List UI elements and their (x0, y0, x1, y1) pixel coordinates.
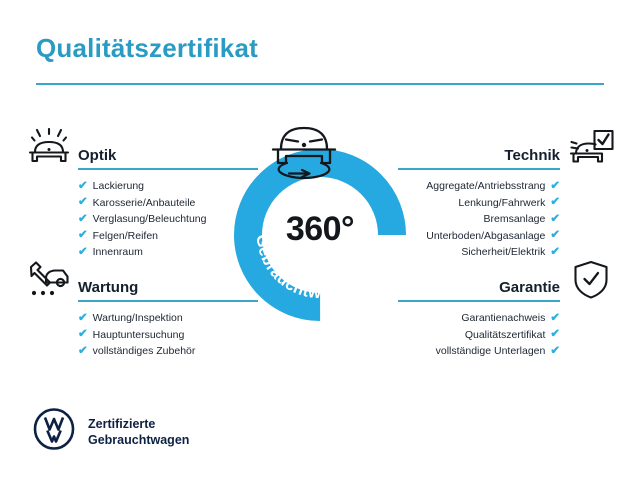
check-icon: ✔ (550, 181, 560, 193)
check-icon: ✔ (550, 346, 560, 358)
sparkling-car-front-icon (22, 126, 76, 170)
vw-logo (33, 408, 75, 455)
check-icon: ✔ (78, 329, 88, 341)
list-item: ✔Wartung/Inspektion (22, 310, 237, 327)
list-item-label: Bremsanlage (483, 211, 545, 228)
footer-brand-line2: Gebrauchtwagen (88, 432, 189, 448)
list-item-label: Qualitätszertifikat (465, 327, 546, 344)
list-item-label: vollständige Unterlagen (436, 343, 546, 360)
footer-brand-text: Zertifizierte Gebrauchtwagen (88, 416, 189, 448)
shield-check-icon (564, 258, 618, 302)
list-item: Lenkung/Fahrwerk✔ (398, 195, 618, 212)
list-item: Garantienachweis✔ (398, 310, 618, 327)
list-item: vollständige Unterlagen✔ (398, 343, 618, 360)
section-technik-header: Technik (398, 126, 618, 172)
list-item-label: Garantienachweis (461, 310, 545, 327)
check-icon: ✔ (550, 247, 560, 259)
list-item-label: Unterboden/Abgasanlage (426, 228, 545, 245)
list-item: ✔vollständiges Zubehör (22, 343, 237, 360)
section-optik-title: Optik (78, 147, 116, 164)
list-item: ✔Hauptuntersuchung (22, 327, 237, 344)
check-icon: ✔ (550, 197, 560, 209)
footer-brand-line1: Zertifizierte (88, 416, 189, 432)
section-optik: Optik ✔Lackierung ✔Karosserie/Anbauteile… (22, 126, 237, 261)
certificate-page: Qualitätszertifikat Optik (0, 0, 640, 480)
check-icon: ✔ (78, 247, 88, 259)
check-icon: ✔ (78, 214, 88, 226)
section-garantie-divider (398, 300, 560, 302)
title-divider (36, 83, 604, 85)
badge-degrees: 360° (233, 210, 407, 249)
check-icon: ✔ (78, 313, 88, 325)
list-item-label: vollständiges Zubehör (93, 343, 196, 360)
check-icon: ✔ (78, 346, 88, 358)
check-icon: ✔ (550, 230, 560, 242)
list-item: Bremsanlage✔ (398, 211, 618, 228)
section-technik-list: Aggregate/Antriebsstrang✔ Lenkung/Fahrwe… (398, 172, 618, 261)
section-technik-divider (398, 168, 560, 170)
list-item: Aggregate/Antriebsstrang✔ (398, 178, 618, 195)
list-item-label: Hauptuntersuchung (93, 327, 185, 344)
section-garantie-title: Garantie (499, 279, 560, 296)
car-checkbox-icon (564, 126, 618, 170)
section-wartung-title: Wartung (78, 279, 138, 296)
section-optik-header: Optik (22, 126, 237, 172)
list-item: Qualitätszertifikat✔ (398, 327, 618, 344)
section-optik-divider (78, 168, 258, 170)
list-item-label: Lackierung (93, 178, 144, 195)
section-wartung-header: Wartung (22, 258, 237, 304)
check-icon: ✔ (550, 313, 560, 325)
section-optik-list: ✔Lackierung ✔Karosserie/Anbauteile ✔Verg… (22, 172, 237, 261)
list-item-label: Karosserie/Anbauteile (93, 195, 196, 212)
section-technik: Technik Aggregate/Antriebsstrang✔ Lenkun… (398, 126, 618, 261)
check-icon: ✔ (78, 197, 88, 209)
list-item-label: Verglasung/Beleuchtung (93, 211, 207, 228)
check-icon: ✔ (78, 181, 88, 193)
list-item-label: Aggregate/Antriebsstrang (426, 178, 545, 195)
section-technik-title: Technik (504, 147, 560, 164)
footer-brand: Zertifizierte Gebrauchtwagen (33, 408, 189, 455)
check-icon: ✔ (78, 230, 88, 242)
check-icon: ✔ (550, 329, 560, 341)
section-garantie-header: Garantie (398, 258, 618, 304)
car-360-rotation-icon (265, 119, 343, 181)
list-item-label: Felgen/Reifen (93, 228, 158, 245)
section-wartung-divider (78, 300, 258, 302)
section-wartung-list: ✔Wartung/Inspektion ✔Hauptuntersuchung ✔… (22, 304, 237, 360)
list-item: ✔Verglasung/Beleuchtung (22, 211, 237, 228)
list-item-label: Lenkung/Fahrwerk (458, 195, 545, 212)
list-item-label: Wartung/Inspektion (93, 310, 183, 327)
list-item: ✔Karosserie/Anbauteile (22, 195, 237, 212)
section-garantie-list: Garantienachweis✔ Qualitätszertifikat✔ v… (398, 304, 618, 360)
page-title: Qualitätszertifikat (36, 33, 258, 64)
check-icon: ✔ (550, 214, 560, 226)
wrench-car-service-icon (22, 258, 76, 302)
list-item: Unterboden/Abgasanlage✔ (398, 228, 618, 245)
section-wartung: Wartung ✔Wartung/Inspektion ✔Hauptunters… (22, 258, 237, 360)
list-item: ✔Felgen/Reifen (22, 228, 237, 245)
list-item: ✔Lackierung (22, 178, 237, 195)
section-garantie: Garantie Garantienachweis✔ Qualitätszert… (398, 258, 618, 360)
